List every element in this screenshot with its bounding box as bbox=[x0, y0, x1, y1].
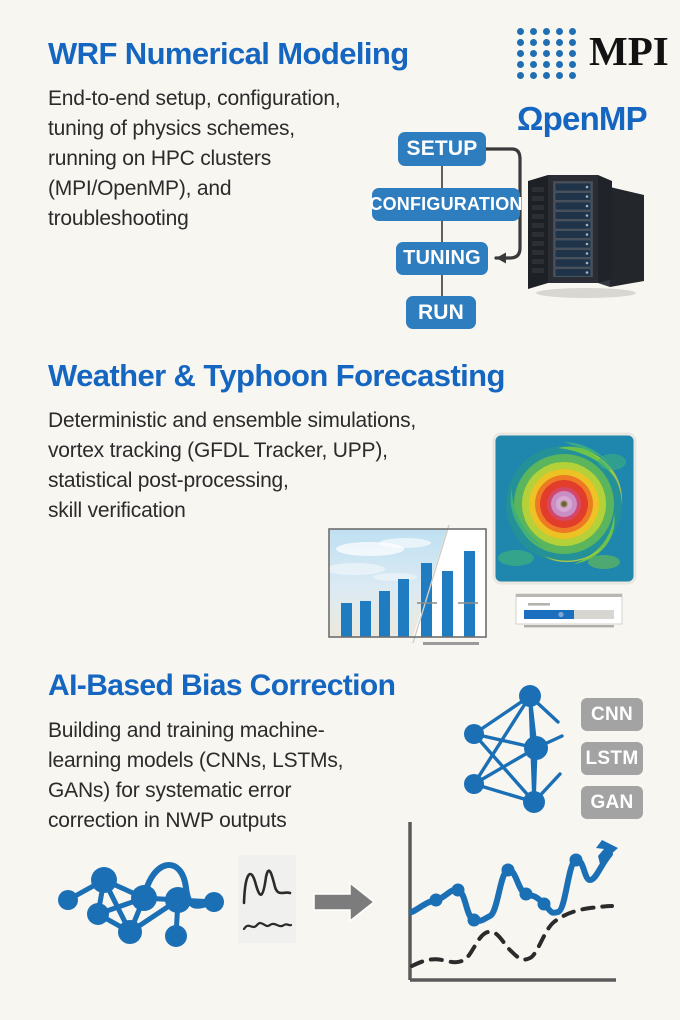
section-heading: AI-Based Bias Correction bbox=[48, 670, 395, 702]
progress-fill bbox=[524, 610, 574, 619]
signal-waveform-box bbox=[238, 855, 296, 943]
flow-step-run[interactable]: RUN bbox=[406, 296, 476, 329]
neural-network-graph-icon bbox=[452, 678, 572, 818]
section-ai-based-bias-correction: AI-Based Bias Correction Building and tr… bbox=[0, 658, 680, 1020]
flow-step-setup[interactable]: SETUP bbox=[398, 132, 486, 166]
badge-lstm[interactable]: LSTM bbox=[581, 742, 643, 775]
raw-bias-series-line bbox=[412, 906, 612, 966]
section-heading: WRF Numerical Modeling bbox=[48, 38, 409, 71]
section-wrf-numerical-modeling: WRF Numerical Modeling End-to-end setup,… bbox=[0, 0, 680, 340]
series-markers bbox=[430, 854, 583, 927]
section-weather-typhoon-forecasting: Weather & Typhoon Forecasting Determinis… bbox=[0, 340, 680, 658]
badge-gan[interactable]: GAN bbox=[581, 786, 643, 819]
section-body-text: Building and training machine- learning … bbox=[48, 716, 448, 836]
section-heading: Weather & Typhoon Forecasting bbox=[48, 360, 505, 393]
model-type-badges: CNN LSTM GAN bbox=[581, 698, 643, 830]
mpi-dot-grid-icon bbox=[517, 28, 579, 80]
neural-network-left-icon bbox=[52, 848, 232, 948]
timeseries-chart bbox=[394, 818, 619, 998]
server-rack-icon bbox=[522, 167, 650, 299]
flow-step-configuration[interactable]: CONFIGURATION bbox=[372, 188, 520, 221]
right-arrow-icon bbox=[312, 880, 376, 924]
mpi-logo: MPI bbox=[517, 28, 677, 80]
progress-label-bar bbox=[528, 603, 550, 606]
section-body-text: Deterministic and ensemble simulations, … bbox=[48, 406, 508, 526]
progress-card bbox=[514, 593, 624, 630]
mpi-wordmark: MPI bbox=[589, 27, 669, 75]
bar-chart-illustration bbox=[325, 525, 490, 644]
typhoon-satellite-image bbox=[492, 432, 637, 585]
flow-step-tuning[interactable]: TUNING bbox=[396, 242, 488, 275]
workflow-flowchart: SETUP CONFIGURATION TUNING RUN bbox=[360, 132, 540, 337]
badge-cnn[interactable]: CNN bbox=[581, 698, 643, 731]
infographic-page: WRF Numerical Modeling End-to-end setup,… bbox=[0, 0, 680, 1020]
